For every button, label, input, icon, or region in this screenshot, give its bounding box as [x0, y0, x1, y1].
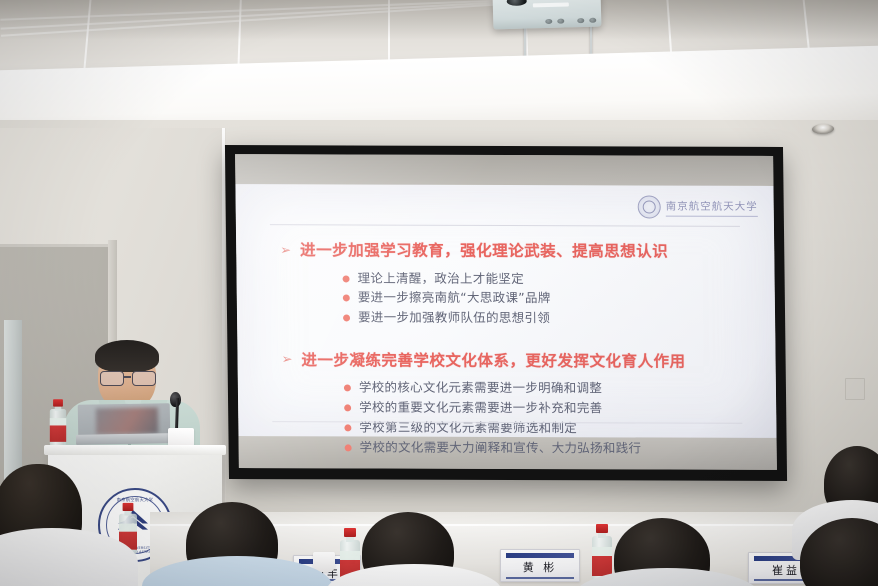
glasses-lens-right	[132, 371, 156, 386]
bullet-text: 学校的文化需要大力阐释和宣传、大力弘扬和践行	[360, 439, 642, 457]
bullet-dot-icon	[343, 315, 350, 322]
arrow-bullet-icon: ➢	[281, 352, 292, 365]
slide-content: ➢ 进一步加强学习教育，强化理论武装、提高思想认识 理论上清醒，政治上才能坚定 …	[280, 238, 747, 469]
university-seal-icon	[638, 195, 661, 218]
slide-logo-text: 南京航空航天大学	[666, 198, 758, 216]
glasses-bridge	[123, 376, 131, 378]
glasses-lens-left	[100, 371, 124, 386]
bullet-dot-icon	[345, 444, 352, 451]
slide-heading-2-text: 进一步凝练完善学校文化体系，更好发挥文化育人作用	[301, 348, 685, 371]
projector-vent	[557, 19, 564, 24]
projector-vent	[545, 19, 552, 24]
ceiling-shadow	[0, 0, 878, 40]
slide-heading-2: ➢ 进一步凝练完善学校文化体系，更好发挥文化育人作用	[281, 348, 745, 372]
laptop-display-content	[96, 407, 158, 434]
list-item: 学校的重要文化元素需要进一步补充和完善	[282, 398, 746, 419]
list-item: 要进一步加强教师队伍的思想引领	[281, 308, 745, 329]
slide-bullet-list-1: 理论上清醒，政治上才能坚定 要进一步擦亮南航“大思政课”品牌 要进一步加强教师队…	[280, 268, 745, 329]
bullet-dot-icon	[343, 275, 350, 282]
projector-vent	[577, 18, 584, 23]
projection-screen: 南京航空航天大学 ➢ 进一步加强学习教育，强化理论武装、提高思想认识 理论上清醒…	[225, 145, 787, 481]
bottle-label	[119, 524, 137, 532]
bottle-cap	[344, 528, 356, 537]
nameplate-name-text: 黄 彬	[501, 559, 579, 575]
wall-outlet-plate	[845, 378, 865, 400]
nameplate-header-bar	[506, 553, 574, 558]
projector-vent	[589, 18, 596, 23]
list-item: 要进一步擦亮南航“大思政课”品牌	[281, 288, 745, 309]
lectern-top-surface	[44, 445, 226, 455]
bottle-label	[592, 547, 612, 556]
bullet-text: 学校的重要文化元素需要进一步补充和完善	[359, 399, 602, 417]
bottle-label	[50, 418, 66, 425]
bottle-cap	[596, 524, 608, 533]
slide-bullet-list-2: 学校的核心文化元素需要进一步明确和调整 学校的重要文化元素需要进一步补充和完善 …	[282, 378, 747, 459]
slide-organization-logo: 南京航空航天大学	[638, 195, 758, 218]
nameplate-footer-bar	[506, 577, 574, 579]
bottle-cap	[53, 399, 63, 406]
bullet-text: 学校的核心文化元素需要进一步明确和调整	[359, 380, 602, 398]
bottle-label-red	[50, 425, 66, 441]
projection-screen-surface: 南京航空航天大学 ➢ 进一步加强学习教育，强化理论武装、提高思想认识 理论上清醒…	[235, 154, 777, 470]
bullet-text: 要进一步擦亮南航“大思政课”品牌	[358, 290, 551, 308]
screen-letterbox-top	[235, 154, 773, 186]
bullet-text: 要进一步加强教师队伍的思想引领	[358, 310, 550, 328]
list-item: 理论上清醒，政治上才能坚定	[280, 268, 744, 289]
bullet-text: 理论上清醒，政治上才能坚定	[357, 270, 524, 287]
bullet-dot-icon	[344, 404, 351, 411]
speaker-hair	[95, 340, 159, 372]
list-item: 学校的文化需要大力阐释和宣传、大力弘扬和践行	[283, 437, 747, 458]
bullet-dot-icon	[343, 295, 350, 302]
arrow-bullet-icon: ➢	[280, 243, 291, 256]
slide-heading-1-text: 进一步加强学习教育，强化理论武装、提高思想认识	[300, 238, 668, 261]
list-item: 学校的核心文化元素需要进一步明确和调整	[282, 378, 746, 399]
bottle-label	[340, 551, 360, 560]
ceiling-projector	[493, 0, 602, 29]
speaker-glasses-icon	[100, 371, 154, 384]
projector-brand-strip	[533, 2, 569, 7]
presentation-slide: 南京航空航天大学 ➢ 进一步加强学习教育，强化理论武装、提高思想认识 理论上清醒…	[235, 184, 776, 438]
slide-heading-1: ➢ 进一步加强学习教育，强化理论武装、提高思想认识	[280, 238, 744, 262]
conference-room-scene: 南京航空航天大学 ➢ 进一步加强学习教育，强化理论武装、提高思想认识 理论上清醒…	[0, 0, 878, 586]
slide-divider-top	[270, 224, 740, 227]
water-bottle	[50, 399, 66, 447]
bullet-dot-icon	[344, 424, 351, 431]
bottle-cap	[123, 503, 134, 511]
projector-lens-icon	[507, 0, 527, 6]
bullet-dot-icon	[344, 385, 351, 392]
nameplate: 黄 彬	[500, 549, 580, 582]
laptop-base	[76, 433, 172, 445]
